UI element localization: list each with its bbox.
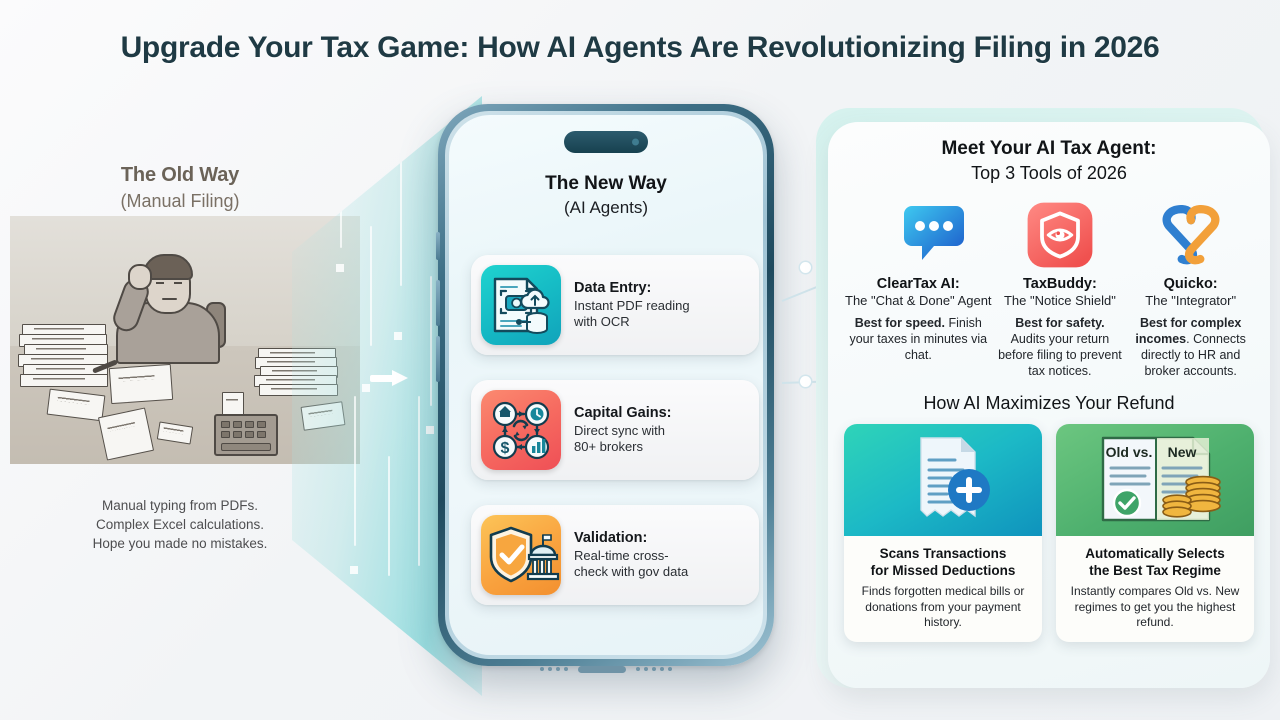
- tool-tagline: The "Integrator": [1128, 293, 1253, 308]
- old-way-subtitle: (Manual Filing): [0, 191, 360, 212]
- connector-dot-bottom: [800, 376, 811, 387]
- right-panel-heading: Meet Your AI Tax Agent: Top 3 Tools of 2…: [838, 138, 1260, 184]
- feature-desc-line: Direct sync with: [574, 423, 672, 440]
- old-vs-new-regime-compare-icon: Old vs. New: [1056, 424, 1254, 536]
- phone-volume-up-button[interactable]: [436, 280, 440, 326]
- feature-title: Capital Gains:: [574, 405, 672, 421]
- tool-cleartax-ai[interactable]: ClearTax AI: The "Chat & Done" Agent Bes…: [842, 198, 995, 379]
- feature-text: Validation: Real-time cross- check with …: [561, 530, 688, 581]
- old-way-title: The Old Way: [0, 164, 360, 187]
- tool-tagline: The "Notice Shield": [998, 293, 1123, 308]
- feature-desc-line: Real-time cross-: [574, 548, 688, 565]
- svg-text:$: $: [501, 440, 510, 457]
- refund-cards-row: Scans Transactions for Missed Deductions…: [838, 424, 1260, 642]
- tool-taxbuddy[interactable]: TaxBuddy: The "Notice Shield" Best for s…: [995, 198, 1126, 379]
- phone-mute-switch[interactable]: [436, 232, 440, 260]
- feature-text: Capital Gains: Direct sync with 80+ brok…: [561, 405, 672, 456]
- feature-desc-line: Instant PDF reading: [574, 298, 690, 315]
- speaker-grille-right: [636, 667, 672, 671]
- refund-card-body: Automatically Selects the Best Tax Regim…: [1056, 536, 1254, 642]
- tool-description: Best for safety. Audits your return befo…: [998, 315, 1123, 379]
- ai-tax-agent-panel: Meet Your AI Tax Agent: Top 3 Tools of 2…: [828, 122, 1270, 688]
- feature-desc: Instant PDF reading with OCR: [574, 298, 690, 331]
- header: Upgrade Your Tax Game: How AI Agents Are…: [0, 0, 1280, 96]
- feature-card-capital-gains[interactable]: $: [471, 380, 759, 480]
- label-old: Old vs.: [1106, 444, 1153, 460]
- phone-screen: The New Way (AI Agents): [449, 115, 763, 655]
- phone-bottom-edge: [438, 660, 774, 678]
- label-new: New: [1168, 444, 1197, 460]
- shield-check-government-icon: [481, 515, 561, 595]
- refund-title-line: the Best Tax Regime: [1063, 562, 1247, 579]
- feature-desc-line: 80+ brokers: [574, 439, 672, 456]
- broker-sync-cycle-icon: $: [481, 390, 561, 470]
- phone-bezel: The New Way (AI Agents): [445, 111, 767, 659]
- tool-highlight: Best for safety.: [1015, 316, 1104, 330]
- right-panel-title: Meet Your AI Tax Agent:: [838, 138, 1260, 160]
- refund-card-title: Automatically Selects the Best Tax Regim…: [1063, 545, 1247, 579]
- page-title: Upgrade Your Tax Game: How AI Agents Are…: [121, 31, 1160, 65]
- tool-desc-rest: Audits your return before filing to prev…: [998, 332, 1122, 378]
- refund-title-line: Scans Transactions: [851, 545, 1035, 562]
- receipt-with-plus-icon: [844, 424, 1042, 536]
- phone-mockup: The New Way (AI Agents): [438, 104, 774, 666]
- phone-volume-down-button[interactable]: [436, 336, 440, 382]
- tool-highlight: Best for speed.: [855, 316, 945, 330]
- refund-title-line: for Missed Deductions: [851, 562, 1035, 579]
- charging-port: [578, 666, 626, 673]
- tool-name: TaxBuddy:: [998, 276, 1123, 292]
- feature-card-validation[interactable]: Validation: Real-time cross- check with …: [471, 505, 759, 605]
- refund-title-line: Automatically Selects: [1063, 545, 1247, 562]
- new-way-title: The New Way: [449, 173, 763, 195]
- refund-card-body: Scans Transactions for Missed Deductions…: [844, 536, 1042, 642]
- tool-quicko[interactable]: Quicko: The "Integrator" Best for comple…: [1125, 198, 1256, 379]
- speaker-grille-left: [540, 667, 568, 671]
- tool-description: Best for complex incomes. Connects direc…: [1128, 315, 1253, 379]
- new-way-heading: The New Way (AI Agents): [449, 173, 763, 218]
- fast-chat-bubble-icon: [845, 198, 992, 272]
- feature-card-data-entry[interactable]: Data Entry: Instant PDF reading with OCR: [471, 255, 759, 355]
- feature-title: Data Entry:: [574, 280, 690, 296]
- refund-card-best-tax-regime[interactable]: Old vs. New: [1056, 424, 1254, 642]
- loose-paper: [109, 364, 173, 404]
- shield-eye-icon: [998, 198, 1123, 272]
- feature-title: Validation:: [574, 530, 688, 546]
- dynamic-island: [564, 131, 648, 153]
- tool-tagline: The "Chat & Done" Agent: [845, 293, 992, 308]
- feature-desc: Direct sync with 80+ brokers: [574, 423, 672, 456]
- refund-card-scans-transactions[interactable]: Scans Transactions for Missed Deductions…: [844, 424, 1042, 642]
- refund-section-heading: How AI Maximizes Your Refund: [838, 393, 1260, 414]
- refund-card-title: Scans Transactions for Missed Deductions: [851, 545, 1035, 579]
- connector-dot-top: [800, 262, 811, 273]
- refund-card-desc: Finds forgotten medical bills or donatio…: [851, 584, 1035, 631]
- feature-desc-line: check with gov data: [574, 564, 688, 581]
- old-way-heading: The Old Way (Manual Filing): [0, 164, 360, 212]
- calculator: [214, 414, 278, 456]
- feature-desc-line: with OCR: [574, 314, 690, 331]
- front-camera-icon: [632, 139, 639, 146]
- refund-card-desc: Instantly compares Old vs. New regimes t…: [1063, 584, 1247, 631]
- tool-description: Best for speed. Finish your taxes in min…: [845, 315, 992, 363]
- feature-desc: Real-time cross- check with gov data: [574, 548, 688, 581]
- tool-name: Quicko:: [1128, 276, 1253, 292]
- feature-text: Data Entry: Instant PDF reading with OCR: [561, 280, 690, 331]
- new-way-subtitle: (AI Agents): [449, 198, 763, 218]
- tools-row: ClearTax AI: The "Chat & Done" Agent Bes…: [838, 198, 1260, 379]
- person-hand: [128, 264, 152, 290]
- tool-name: ClearTax AI:: [845, 276, 992, 292]
- interlocking-links-icon: [1128, 198, 1253, 272]
- right-panel-subtitle: Top 3 Tools of 2026: [838, 163, 1260, 184]
- document-scan-ocr-cloud-icon: [481, 265, 561, 345]
- right-arrow-icon: [370, 370, 410, 386]
